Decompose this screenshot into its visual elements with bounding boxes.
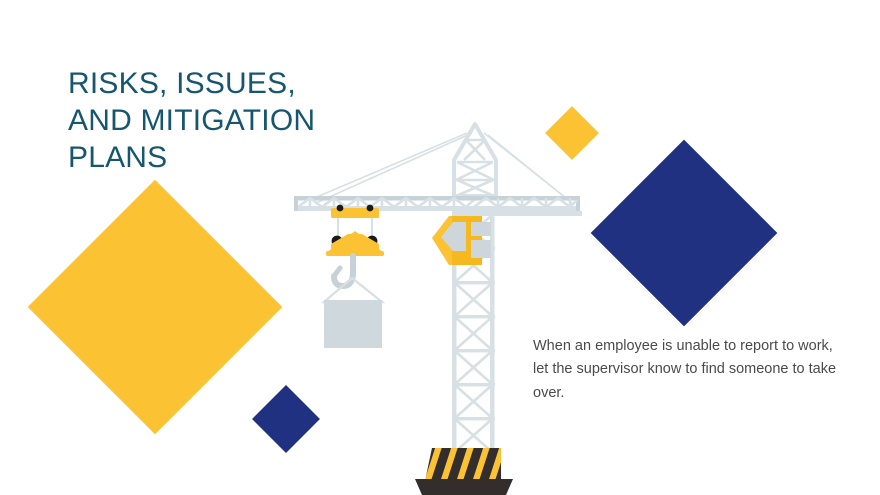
trolley-wheel-left <box>337 205 344 212</box>
slide-canvas: RISKS, ISSUES, AND MITIGATION PLANS When… <box>0 0 880 495</box>
jib-truss <box>296 196 478 211</box>
small-yellow-diamond <box>545 106 599 160</box>
large-yellow-diamond <box>28 180 283 435</box>
tower-crane-illustration <box>296 124 582 495</box>
trolley-wheel-right <box>367 205 374 212</box>
operator-cab <box>432 216 491 265</box>
base-trapezoid <box>415 479 513 495</box>
cab-window-lower <box>471 240 491 258</box>
hook <box>334 256 353 286</box>
base-platform <box>415 479 513 495</box>
hook-block <box>326 231 384 256</box>
slewing-platform <box>452 211 582 216</box>
load-box <box>324 300 382 348</box>
large-navy-diamond <box>591 140 778 327</box>
apex-tower-top <box>454 124 496 196</box>
small-navy-diamond <box>252 385 320 453</box>
load-crate <box>324 278 382 348</box>
apex-outline <box>454 124 496 196</box>
hook-tip <box>334 268 340 276</box>
body-paragraph: When an employee is unable to report to … <box>533 335 838 405</box>
counterjib-bottom-chord <box>472 206 578 211</box>
cab-window-upper <box>471 222 491 236</box>
page-title: RISKS, ISSUES, AND MITIGATION PLANS <box>68 66 368 177</box>
